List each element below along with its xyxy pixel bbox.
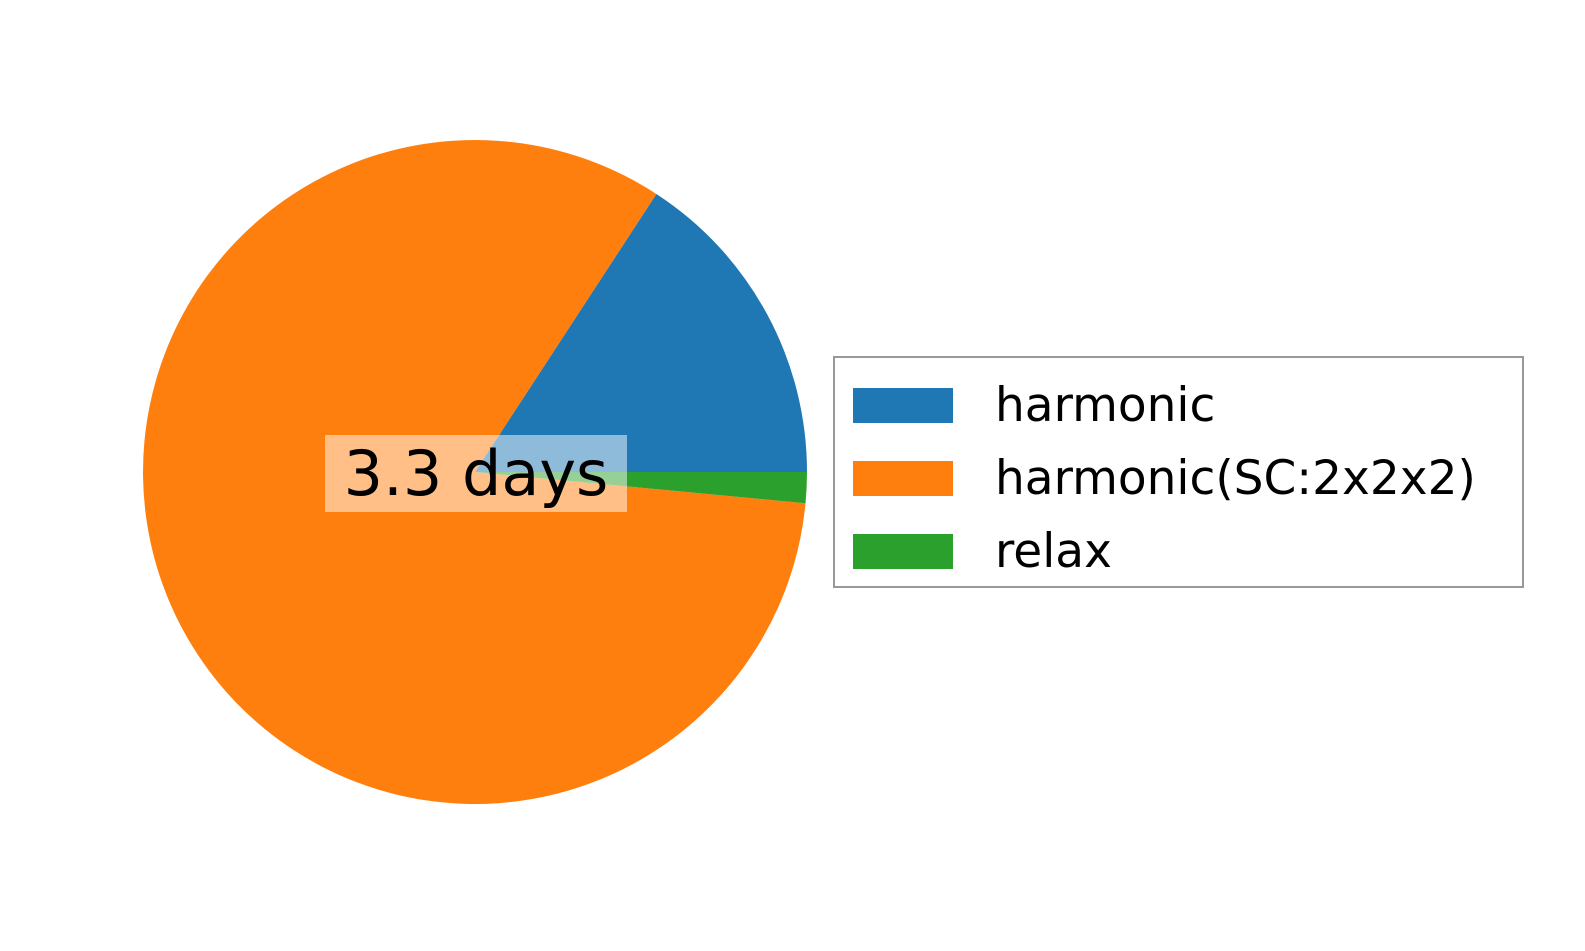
legend-label-relax: relax — [995, 528, 1112, 575]
legend-entry-harmonic-sc[interactable]: harmonic(SC:2x2x2) — [835, 453, 1476, 503]
center-label-box: 3.3 days — [325, 435, 627, 512]
legend-label-harmonic-sc: harmonic(SC:2x2x2) — [995, 455, 1476, 502]
legend-label-harmonic: harmonic — [995, 382, 1215, 429]
legend-swatch-harmonic — [853, 388, 953, 423]
legend-entry-relax[interactable]: relax — [835, 526, 1112, 576]
legend-swatch-relax — [853, 534, 953, 569]
legend-entry-harmonic[interactable]: harmonic — [835, 380, 1215, 430]
legend-swatch-harmonic-sc — [853, 461, 953, 496]
center-label-text: 3.3 days — [344, 443, 609, 505]
pie-chart-figure: 3.3 days harmonic harmonic(SC:2x2x2) rel… — [0, 0, 1585, 951]
legend-box: harmonic harmonic(SC:2x2x2) relax — [833, 356, 1524, 588]
